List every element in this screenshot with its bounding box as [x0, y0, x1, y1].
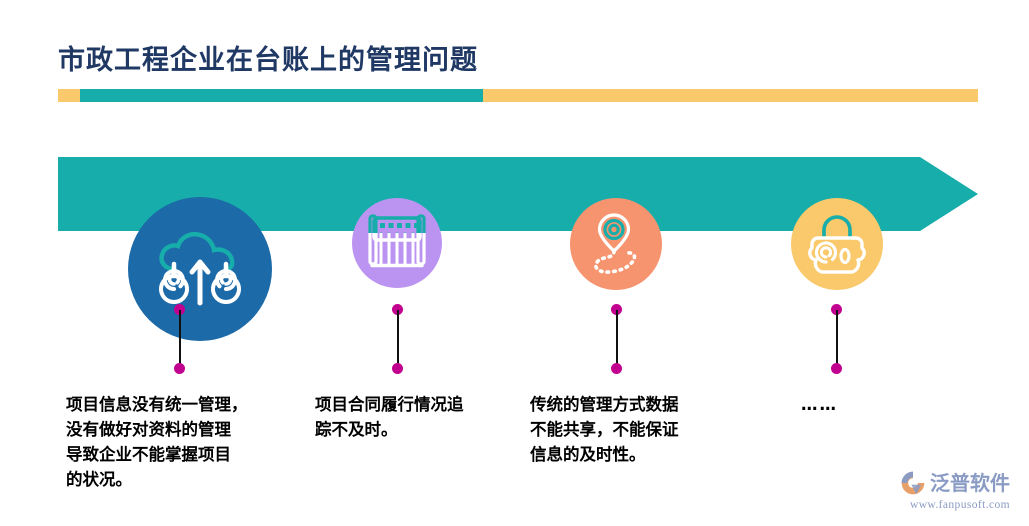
step-connector-4 [831, 304, 843, 374]
rule-segment-left-cap [58, 89, 80, 102]
brand-name: 泛普软件 [930, 473, 1010, 493]
step-connector-2 [392, 304, 404, 374]
connector-line-1 [179, 310, 181, 368]
connector-dot-bottom-2 [392, 363, 403, 374]
lock-bag-icon [804, 212, 870, 276]
connector-line-2 [397, 310, 399, 368]
step-icon-circle-3[interactable] [570, 198, 662, 290]
connector-dot-bottom-4 [831, 363, 842, 374]
connector-dot-bottom-3 [611, 363, 622, 374]
rule-segment-teal [80, 89, 483, 102]
step-connector-1 [174, 304, 186, 374]
connector-line-4 [836, 310, 838, 368]
step-caption-1: 项目信息没有统一管理， 没有做好对资料的管理 导致企业不能掌握项目 的状况。 [66, 392, 296, 492]
connector-line-3 [616, 310, 618, 368]
step-icon-circle-2[interactable] [352, 198, 442, 288]
connector-dot-bottom-1 [174, 363, 185, 374]
brand-logo[interactable]: 泛普软件 www.fanpusoft.com [900, 470, 1020, 518]
step-caption-3: 传统的管理方式数据 不能共享，不能保证 信息的及时性。 [530, 392, 735, 467]
slide-canvas: 市政工程企业在台账上的管理问题 项目信息没有统一管理， [0, 0, 1029, 526]
brand-url: www.fanpusoft.com [900, 499, 1020, 511]
step-icon-circle-4[interactable] [791, 198, 883, 290]
calendar-fence-icon [366, 212, 428, 274]
step-connector-3 [611, 304, 623, 374]
step-caption-4: …… [801, 392, 921, 417]
page-title: 市政工程企业在台账上的管理问题 [58, 38, 478, 77]
rule-segment-yellow [483, 89, 978, 102]
cloud-upload-icon [157, 231, 243, 307]
step-icon-circle-1[interactable] [128, 197, 272, 341]
title-rule-bar [58, 89, 978, 102]
step-caption-2: 项目合同履行情况追 踪不及时。 [315, 392, 520, 442]
fanpu-logo-icon [900, 470, 926, 496]
location-route-icon [583, 211, 649, 277]
brand-logo-row: 泛普软件 [900, 470, 1020, 496]
